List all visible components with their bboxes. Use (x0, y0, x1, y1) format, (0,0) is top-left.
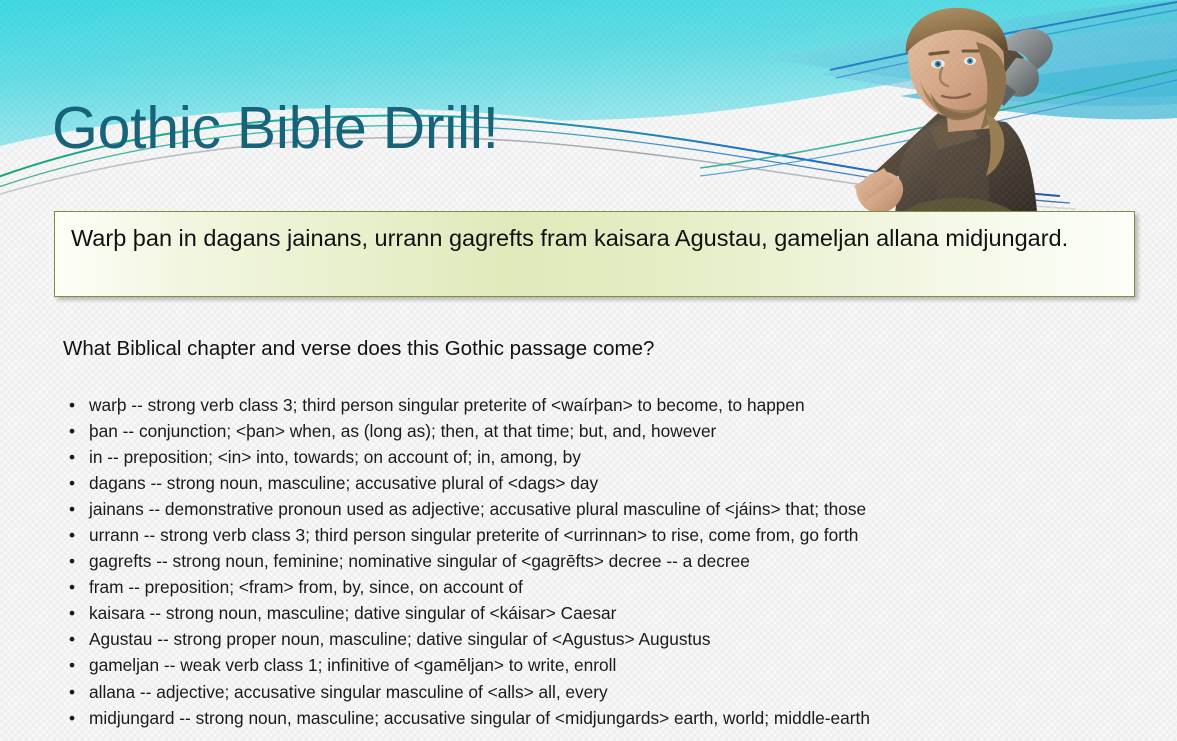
gloss-text: warþ -- strong verb class 3; third perso… (89, 395, 805, 415)
list-item: •midjungard -- strong noun, masculine; a… (63, 705, 1148, 731)
list-item: •allana -- adjective; accusative singula… (63, 679, 1148, 705)
bullet-icon: • (69, 496, 75, 522)
list-item: •Agustau -- strong proper noun, masculin… (63, 626, 1148, 652)
list-item: •kaisara -- strong noun, masculine; dati… (63, 600, 1148, 626)
word-gloss-list: •warþ -- strong verb class 3; third pers… (63, 392, 1148, 731)
list-item: •warþ -- strong verb class 3; third pers… (63, 392, 1148, 418)
gloss-text: fram -- preposition; <fram> from, by, si… (89, 577, 523, 597)
bullet-icon: • (69, 418, 75, 444)
gloss-text: midjungard -- strong noun, masculine; ac… (89, 708, 870, 728)
bullet-icon: • (69, 600, 75, 626)
bullet-icon: • (69, 522, 75, 548)
gloss-text: jainans -- demonstrative pronoun used as… (89, 499, 866, 519)
bullet-icon: • (69, 679, 75, 705)
list-item: •gagrefts -- strong noun, feminine; nomi… (63, 548, 1148, 574)
gloss-text: kaisara -- strong noun, masculine; dativ… (89, 603, 616, 623)
gloss-text: in -- preposition; <in> into, towards; o… (89, 447, 581, 467)
bullet-icon: • (69, 705, 75, 731)
list-item: •urrann -- strong verb class 3; third pe… (63, 522, 1148, 548)
bullet-icon: • (69, 470, 75, 496)
slide-canvas: Gothic Bible Drill! Warþ þan in dagans j… (0, 0, 1177, 741)
bullet-icon: • (69, 626, 75, 652)
gloss-text: dagans -- strong noun, masculine; accusa… (89, 473, 598, 493)
page-title: Gothic Bible Drill! (52, 98, 499, 160)
gothic-passage-text: Warþ þan in dagans jainans, urrann gagre… (71, 225, 1068, 251)
gloss-text: urrann -- strong verb class 3; third per… (89, 525, 858, 545)
list-item: •þan -- conjunction; <þan> when, as (lon… (63, 418, 1148, 444)
gloss-text: þan -- conjunction; <þan> when, as (long… (89, 421, 716, 441)
list-item: •dagans -- strong noun, masculine; accus… (63, 470, 1148, 496)
list-item: •jainans -- demonstrative pronoun used a… (63, 496, 1148, 522)
list-item: •gameljan -- weak verb class 1; infiniti… (63, 652, 1148, 678)
gloss-text: Agustau -- strong proper noun, masculine… (89, 629, 711, 649)
bullet-icon: • (69, 444, 75, 470)
gothic-passage-callout: Warþ þan in dagans jainans, urrann gagre… (54, 211, 1135, 297)
gloss-text: gameljan -- weak verb class 1; infinitiv… (89, 655, 616, 675)
bullet-icon: • (69, 548, 75, 574)
bullet-icon: • (69, 574, 75, 600)
gloss-text: gagrefts -- strong noun, feminine; nomin… (89, 551, 750, 571)
bullet-icon: • (69, 652, 75, 678)
list-item: •in -- preposition; <in> into, towards; … (63, 444, 1148, 470)
drill-question: What Biblical chapter and verse does thi… (63, 337, 654, 361)
bullet-icon: • (69, 392, 75, 418)
list-item: •fram -- preposition; <fram> from, by, s… (63, 574, 1148, 600)
gloss-text: allana -- adjective; accusative singular… (89, 682, 608, 702)
